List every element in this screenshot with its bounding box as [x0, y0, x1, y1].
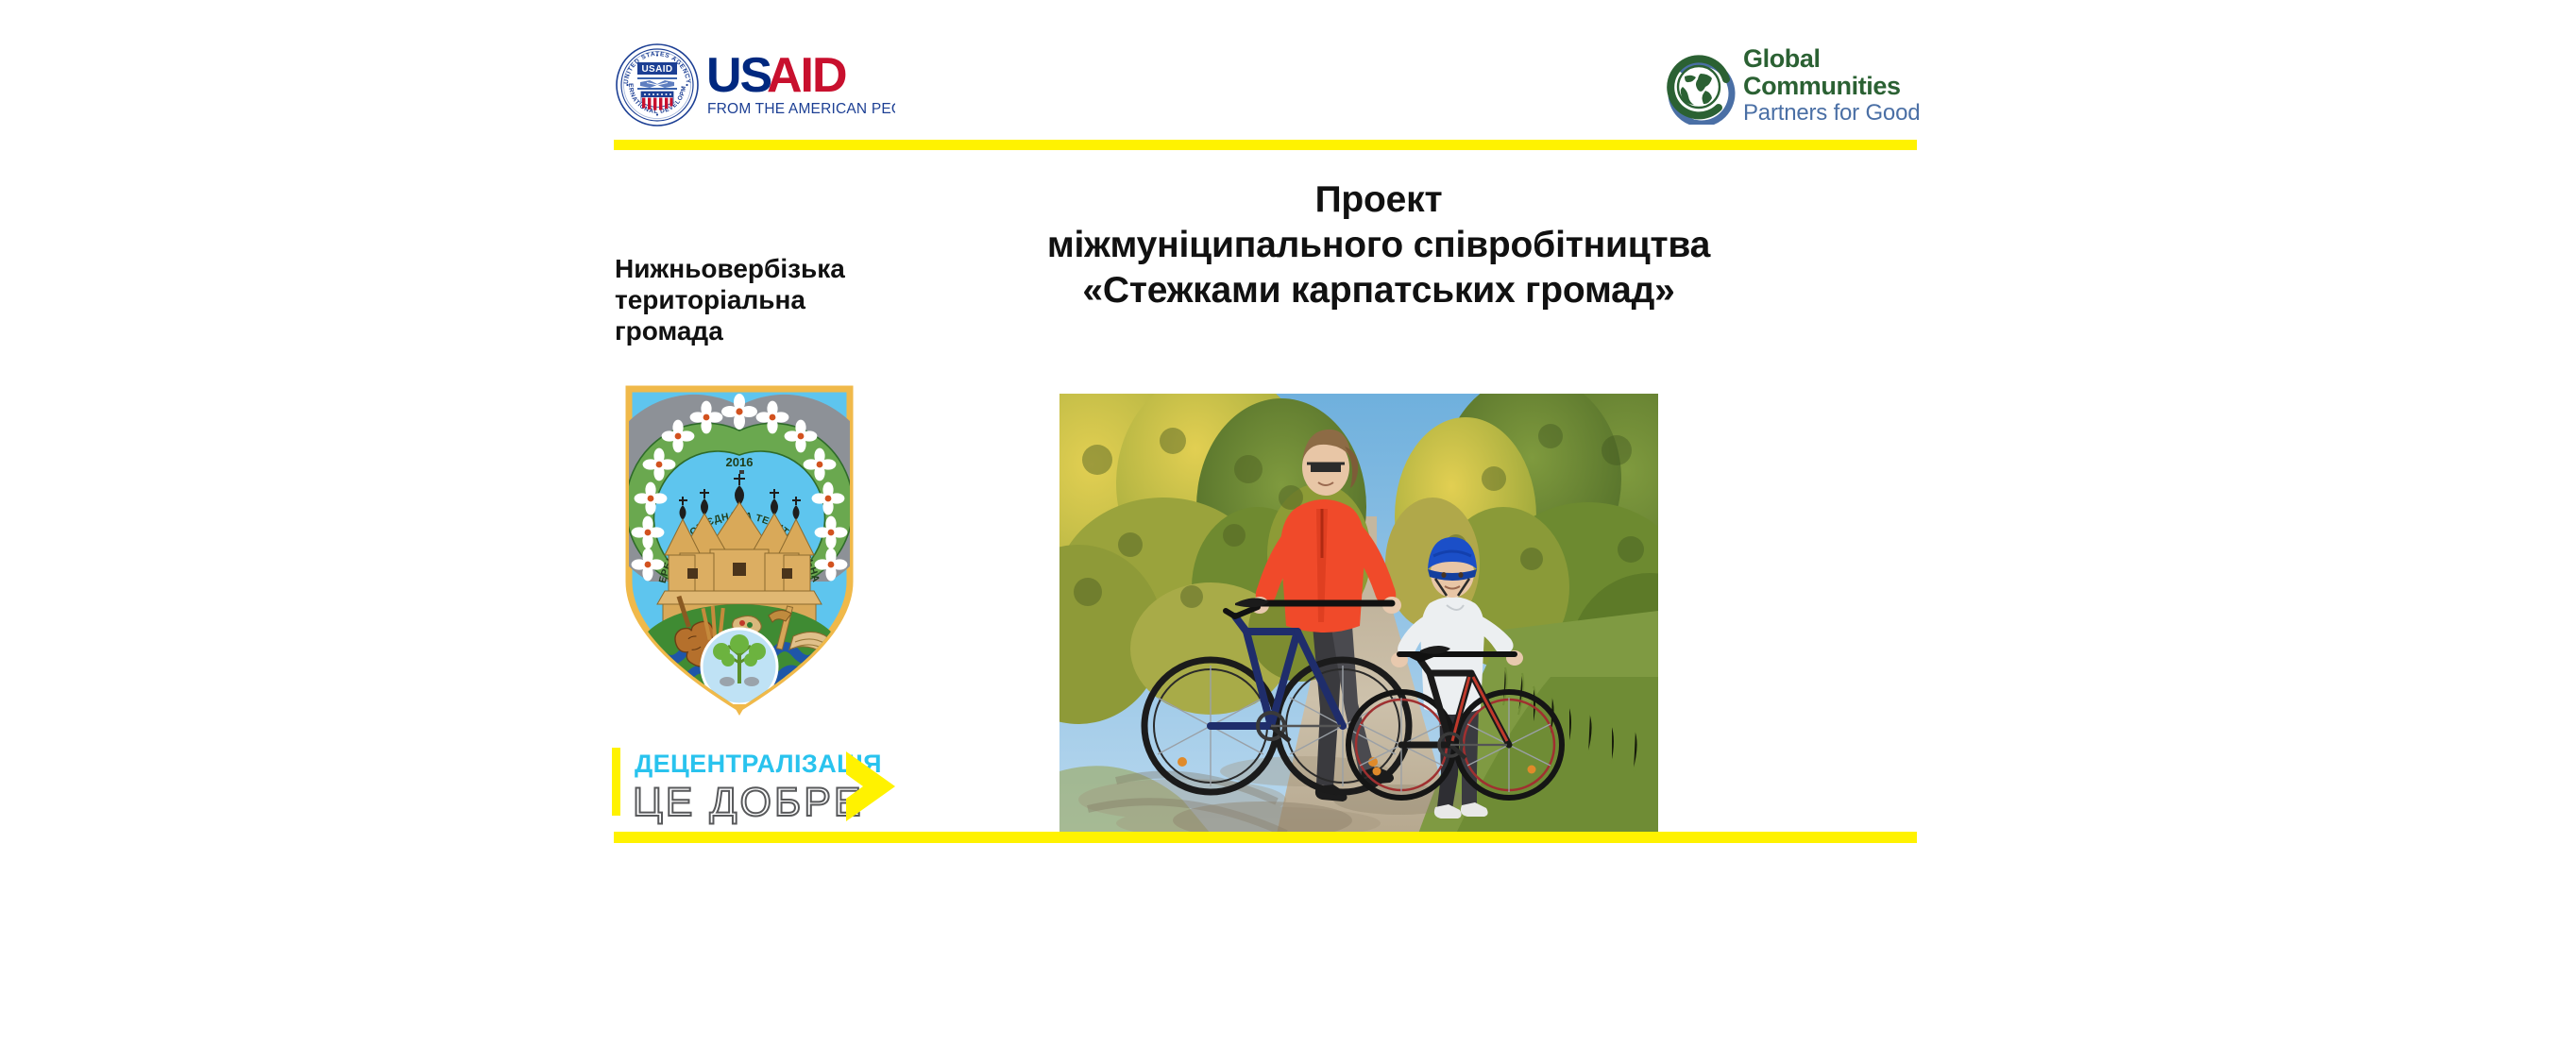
title-line-2: міжмуніципального співробітництва — [954, 223, 1804, 268]
decentralization-logo: ДЕЦЕНТРАЛІЗАЦІЯ ЦЕ ДОБРЕ — [612, 744, 924, 829]
decent-line-1: ДЕЦЕНТРАЛІЗАЦІЯ — [635, 750, 882, 778]
usaid-aid-text: AID — [767, 48, 846, 103]
community-name-line-3: громада — [615, 315, 907, 346]
gc-tagline: Partners for Good — [1743, 100, 1938, 127]
bottom-accent-rule — [614, 832, 1917, 843]
cyclists-photo — [1059, 394, 1658, 834]
yellow-bar — [612, 748, 620, 816]
global-communities-logo: Global Communities Partners for Good — [1664, 45, 1938, 132]
global-communities-text: Global Communities Partners for Good — [1743, 45, 1938, 127]
community-name-line-1: Нижньовербізька — [615, 253, 907, 284]
decentralization-logo-image: ДЕЦЕНТРАЛІЗАЦІЯ ЦЕ ДОБРЕ — [612, 744, 924, 829]
slide-title: Проект міжмуніципального співробітництва… — [954, 177, 1804, 313]
usaid-seal-icon: UNITED STATES AGENCY INTERNATIONAL DEVEL… — [616, 43, 699, 127]
project-photo — [1059, 394, 1658, 834]
slide-canvas: UNITED STATES AGENCY INTERNATIONAL DEVEL… — [0, 0, 2576, 1046]
svg-text:USAID: USAID — [641, 64, 672, 75]
usaid-logo: UNITED STATES AGENCY INTERNATIONAL DEVEL… — [616, 40, 899, 130]
usaid-wordmark: US AID FROM THE AMERICAN PEOPLE — [706, 47, 895, 123]
coat-of-arms: НИЖНЬОВЕРБІЗЬКА ОБ'ЄДНАНА ТЕРИТОРІАЛЬНА … — [621, 383, 857, 716]
usaid-tagline: FROM THE AMERICAN PEOPLE — [707, 101, 895, 117]
gc-line-2: Communities — [1743, 73, 1938, 100]
globe-icon — [1664, 51, 1737, 125]
coa-year: 2016 — [726, 455, 754, 469]
title-line-3: «Стежками карпатських громад» — [954, 268, 1804, 313]
usaid-us-text: US — [706, 48, 771, 103]
coat-of-arms-image: НИЖНЬОВЕРБІЗЬКА ОБ'ЄДНАНА ТЕРИТОРІАЛЬНА … — [621, 383, 857, 716]
community-name: Нижньовербізька територіальна громада — [615, 253, 907, 346]
decent-line-2: ЦЕ ДОБРЕ — [633, 780, 864, 825]
community-name-line-2: територіальна — [615, 284, 907, 315]
title-line-1: Проект — [954, 177, 1804, 223]
gc-line-1: Global — [1743, 45, 1938, 73]
top-accent-rule — [614, 140, 1917, 150]
